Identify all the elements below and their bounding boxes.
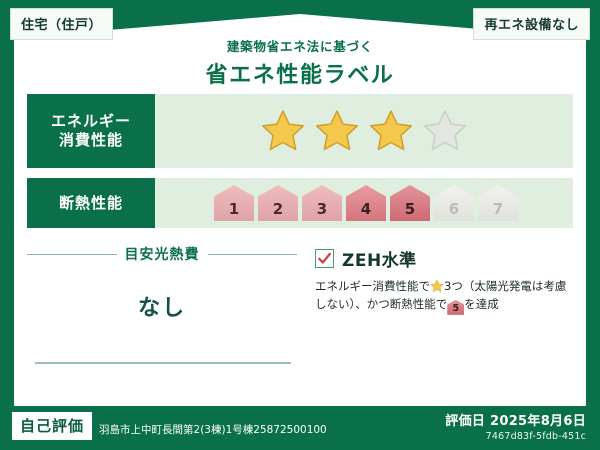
zeh-description: エネルギー消費性能で3つ（太陽光発電は考慮しない）、かつ断熱性能で5を達成 [315, 278, 573, 315]
utility-cost-value: なし [27, 290, 297, 322]
zeh-desc-part4: を達成 [464, 297, 499, 311]
utility-cost-heading: 目安光熱費 [27, 244, 297, 264]
energy-performance-label: エネルギー 消費性能 [27, 94, 155, 168]
zeh-desc-part1: エネルギー消費性能で [315, 279, 430, 293]
utility-cost-panel: 目安光熱費 なし [27, 242, 297, 392]
title-main: 省エネ性能ラベル [0, 57, 600, 89]
energy-star-rating [155, 94, 573, 168]
zeh-checkbox[interactable] [315, 249, 334, 268]
cost-underline [35, 362, 291, 364]
zeh-panel: ZEH水準 エネルギー消費性能で3つ（太陽光発電は考慮しない）、かつ断熱性能で5… [297, 242, 573, 392]
insulation-level-scale: 1234567 [155, 178, 573, 228]
energy-performance-row: エネルギー 消費性能 [27, 94, 573, 168]
star-icon-inline [430, 279, 444, 293]
insulation-performance-label: 断熱性能 [27, 178, 155, 228]
lower-section: 目安光熱費 なし ZEH水準 エネルギー消費性能で3つ（太陽光発電は考慮しな [27, 242, 573, 392]
star-icon-empty [422, 108, 468, 154]
zeh-desc-part2: 3つ（太陽光発電 [444, 279, 532, 293]
evaluation-date: 評価日 2025年8月6日 [445, 410, 586, 429]
page-title: 建築物省エネ法に基づく 省エネ性能ラベル [0, 36, 600, 89]
insulation-level-3: 3 [302, 185, 342, 221]
label-footer: 自己評価 羽島市上中町長間第2(3棟)1号棟25872500100 評価日 20… [0, 406, 600, 450]
star-icon-filled [260, 108, 306, 154]
star-icon-filled [314, 108, 360, 154]
insulation-level-2: 2 [258, 185, 298, 221]
insulation-label-text: 断熱性能 [59, 194, 123, 213]
footer-right: 評価日 2025年8月6日 7467d83f-5fdb-451c [445, 410, 586, 442]
insulation-level-6: 6 [434, 185, 474, 221]
property-address: 羽島市上中町長間第2(3棟)1号棟25872500100 [99, 422, 327, 440]
cost-rule-right [208, 254, 298, 255]
energy-label-line2: 消費性能 [59, 131, 123, 150]
zeh-title: ZEH水準 [342, 246, 417, 271]
self-evaluation-badge: 自己評価 [12, 412, 92, 440]
label-content: エネルギー 消費性能 断熱性能 1234567 目安光熱費 なし [27, 94, 573, 394]
check-icon [317, 251, 332, 266]
energy-performance-label: 住宅（住戸） 再エネ設備なし 建築物省エネ法に基づく 省エネ性能ラベル エネルギ… [0, 0, 600, 450]
zeh-desc-level-badge: 5 [447, 300, 464, 315]
energy-label-line1: エネルギー [51, 112, 131, 131]
evaluation-id: 7467d83f-5fdb-451c [445, 431, 586, 442]
insulation-level-5: 5 [390, 185, 430, 221]
title-subtitle: 建築物省エネ法に基づく [0, 36, 600, 55]
cost-rule-left [27, 254, 117, 255]
insulation-level-4: 4 [346, 185, 386, 221]
insulation-performance-row: 断熱性能 1234567 [27, 178, 573, 228]
insulation-level-1: 1 [214, 185, 254, 221]
zeh-heading: ZEH水準 [315, 246, 573, 271]
star-icon-filled [368, 108, 414, 154]
insulation-level-7: 7 [478, 185, 518, 221]
cost-heading-text: 目安光熱費 [125, 244, 200, 264]
footer-left: 自己評価 羽島市上中町長間第2(3棟)1号棟25872500100 [12, 412, 327, 440]
